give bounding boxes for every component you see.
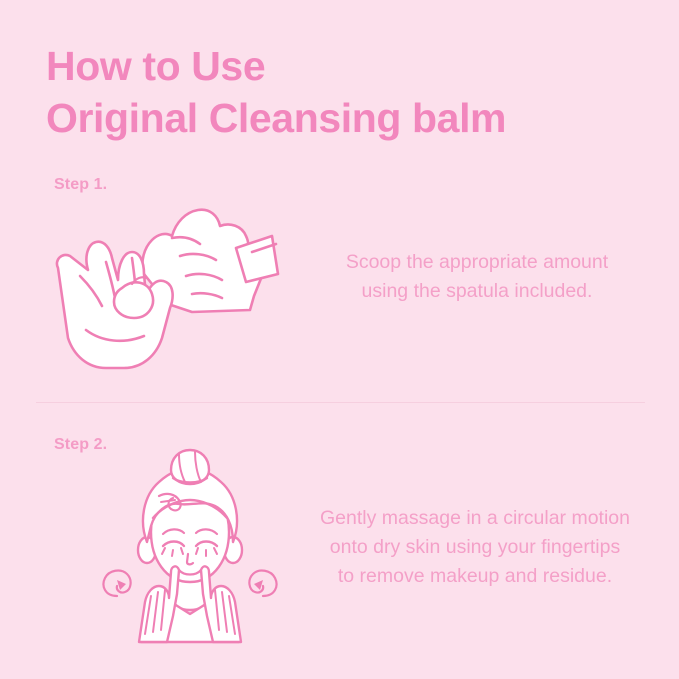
step-2-description: Gently massage in a circular motion onto… [300, 504, 650, 591]
swirl-right [249, 571, 276, 596]
hands-scooping-balm-illustration [40, 192, 300, 377]
swirl-left [104, 571, 131, 596]
step-2-description-line-1: Gently massage in a circular motion [300, 504, 650, 533]
page-title: How to Use Original Cleansing balm [46, 40, 646, 144]
woman-massaging-face-illustration [95, 446, 285, 651]
step-2-section: Step 2. [0, 436, 679, 651]
step-1-description-line-1: Scoop the appropriate amount [312, 248, 642, 277]
step-1-description: Scoop the appropriate amount using the s… [312, 248, 642, 306]
instruction-card: How to Use Original Cleansing balm Step … [0, 0, 679, 679]
step-2-description-line-2: onto dry skin using your fingertips [300, 533, 650, 562]
page-title-line-1: How to Use [46, 40, 646, 92]
step-1-section: Step 1. [0, 176, 679, 386]
step-2-description-line-3: to remove makeup and residue. [300, 562, 650, 591]
page-title-line-2: Original Cleansing balm [46, 92, 646, 144]
section-divider [36, 402, 645, 403]
step-1-description-line-2: using the spatula included. [312, 277, 642, 306]
